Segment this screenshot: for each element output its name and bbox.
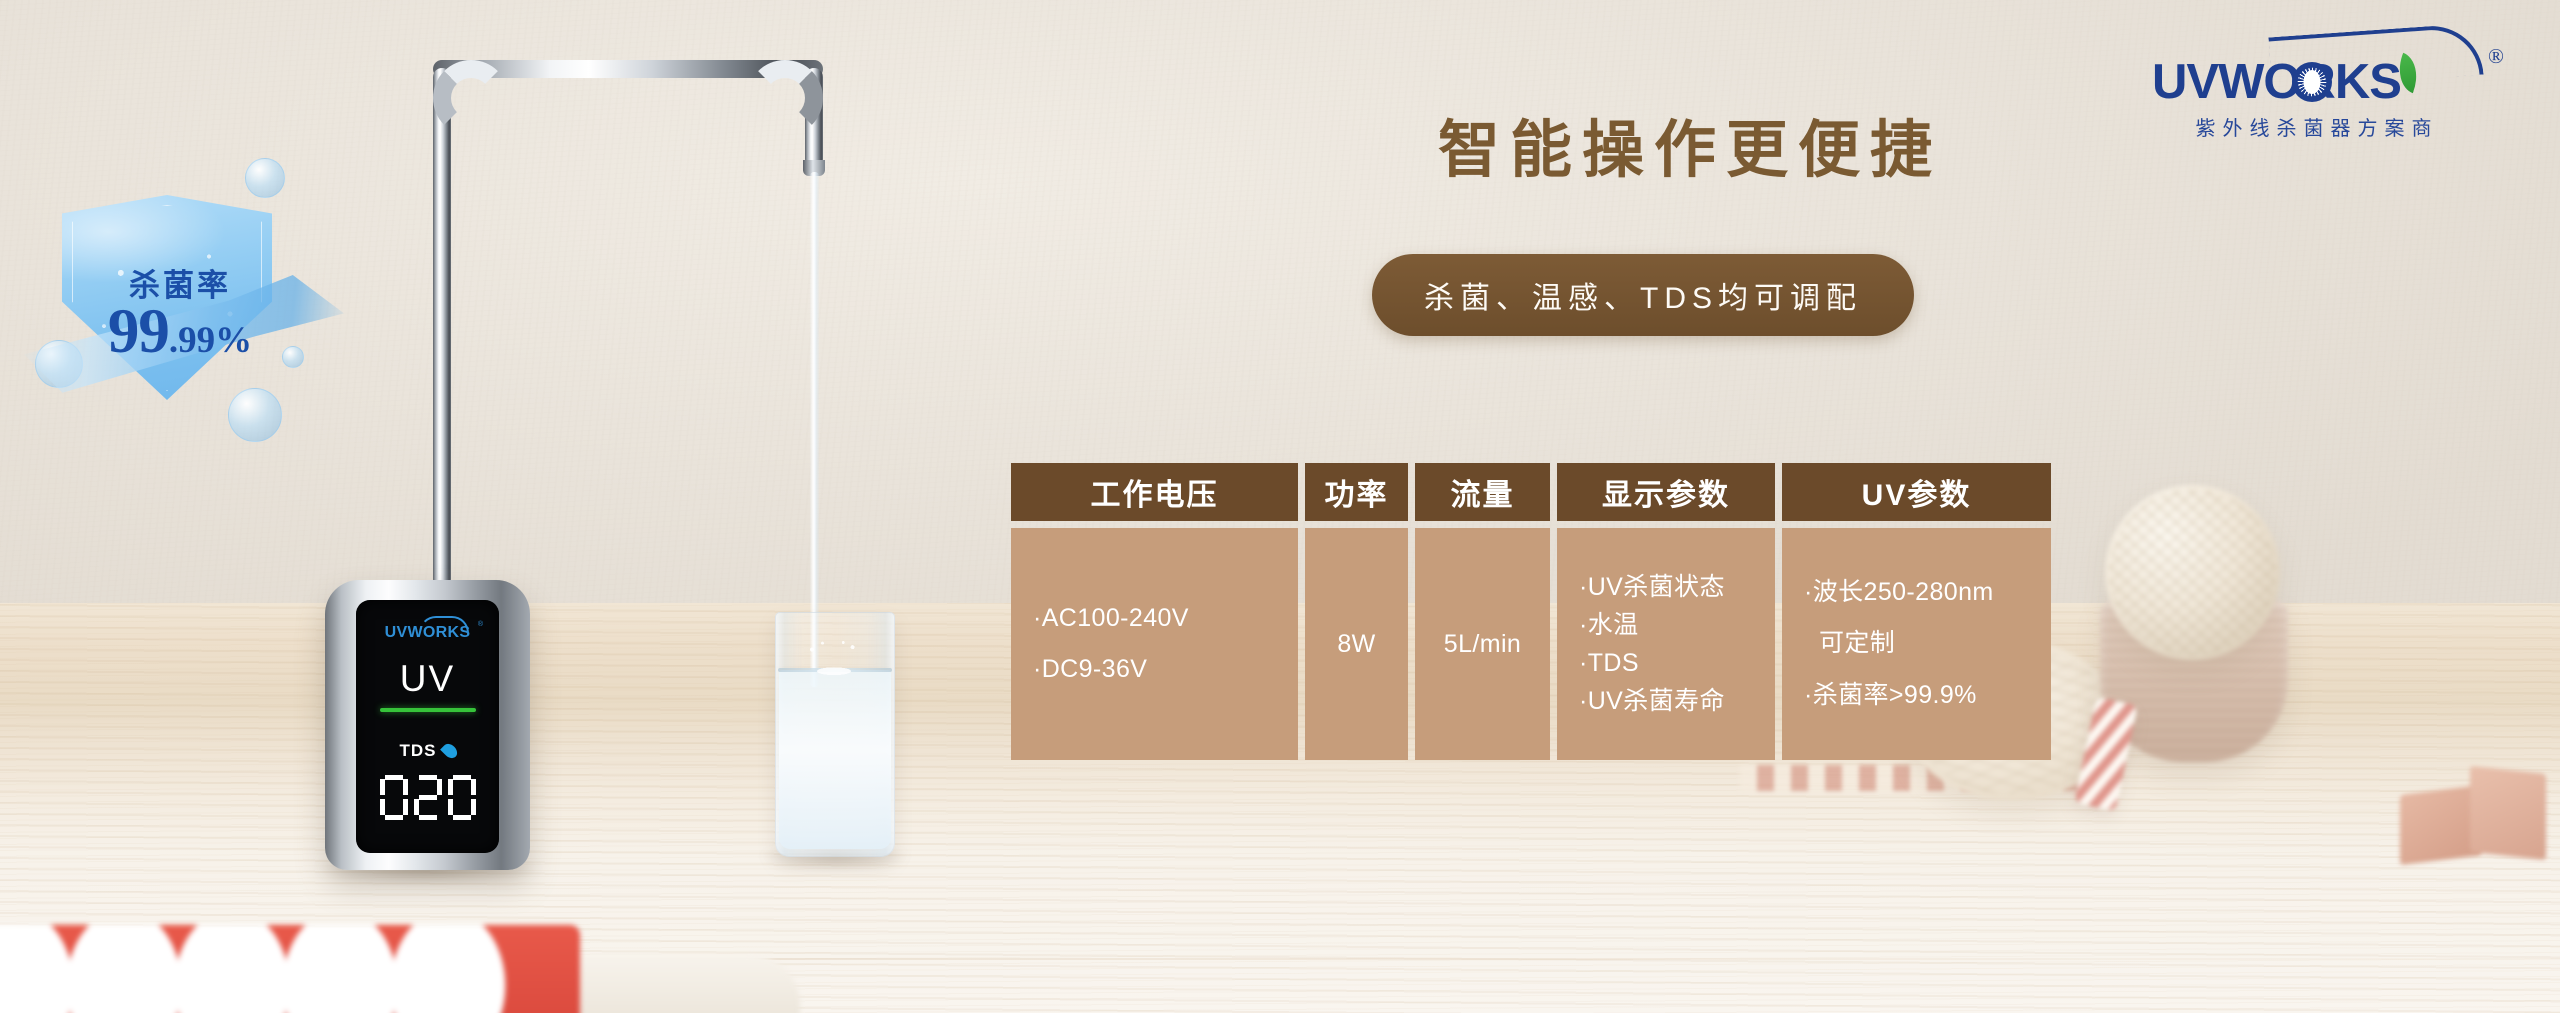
spec-line: ·UV杀菌寿命 bbox=[1579, 682, 1753, 720]
spec-column-flow: 流量 5L/min bbox=[1415, 463, 1550, 760]
registered-mark: ® bbox=[2488, 44, 2504, 69]
spec-line: ·AC100-240V bbox=[1033, 593, 1276, 644]
spec-line: ·波长250-280nm bbox=[1804, 567, 2029, 618]
device-oled-screen[interactable]: UVWORKS ® UV TDS bbox=[356, 600, 499, 853]
chrome-faucet bbox=[415, 60, 835, 600]
screen-logo-registered-mark: ® bbox=[478, 621, 483, 628]
wood-tile-prop-b bbox=[2470, 766, 2546, 860]
water-glass bbox=[775, 612, 895, 857]
water-stream bbox=[810, 172, 819, 687]
spec-column-uv: UV参数 ·波长250-280nm 可定制 ·杀菌率>99.9% bbox=[1782, 463, 2051, 760]
spec-line: ·杀菌率>99.9% bbox=[1804, 670, 2029, 721]
spec-header-display: 显示参数 bbox=[1557, 463, 1775, 521]
subtitle-pill: 杀菌、温感、TDS均可调配 bbox=[1372, 254, 1914, 336]
spec-body-flow: 5L/min bbox=[1415, 528, 1550, 760]
spec-body-uv: ·波长250-280nm 可定制 ·杀菌率>99.9% bbox=[1782, 528, 2051, 760]
spec-line: 8W bbox=[1337, 625, 1375, 663]
water-drop-icon bbox=[440, 741, 460, 761]
uv-sterilizer-device[interactable]: UVWORKS ® UV TDS bbox=[325, 580, 530, 870]
screen-status-bar bbox=[380, 708, 476, 712]
page-title: 智能操作更便捷 bbox=[1360, 120, 2020, 182]
sterilization-rate-badge: 杀菌率 99.99% bbox=[30, 150, 330, 440]
spec-line: ·UV杀菌状态 bbox=[1579, 568, 1753, 606]
screen-logo-arc-icon bbox=[419, 616, 469, 633]
spec-line: ·水温 bbox=[1579, 606, 1753, 644]
badge-value-minor: .99% bbox=[169, 320, 252, 361]
faucet-right-elbow bbox=[747, 60, 823, 136]
bubble-icon-1 bbox=[245, 158, 285, 198]
faucet-left-elbow bbox=[433, 60, 509, 136]
spec-table: 工作电压 ·AC100-240V ·DC9-36V 功率 8W 流量 5L/mi… bbox=[1011, 463, 2051, 760]
spec-body-power: 8W bbox=[1305, 528, 1408, 760]
brand-tagline: 紫外线杀菌器方案商 bbox=[2162, 112, 2472, 141]
screen-mode-label: UV bbox=[400, 660, 455, 697]
bubble-icon-3 bbox=[228, 388, 282, 442]
screen-tds-row: TDS bbox=[400, 741, 456, 761]
seg-digit-0 bbox=[380, 775, 408, 820]
seg-digit-2 bbox=[414, 775, 442, 820]
spec-header-uv: UV参数 bbox=[1782, 463, 2051, 521]
spec-body-voltage: ·AC100-240V ·DC9-36V bbox=[1011, 528, 1298, 760]
spec-line: ·TDS bbox=[1579, 644, 1753, 682]
sunburst-rays-icon bbox=[2292, 62, 2332, 102]
spec-column-voltage: 工作电压 ·AC100-240V ·DC9-36V bbox=[1011, 463, 1298, 760]
screen-tds-label: TDS bbox=[400, 741, 437, 761]
spec-line: 可定制 bbox=[1804, 618, 2029, 669]
spec-column-power: 功率 8W bbox=[1305, 463, 1408, 760]
faucet-left-riser bbox=[433, 68, 451, 588]
water-splash-icon bbox=[805, 640, 863, 680]
brand-logo: UVWORKS ® 紫外线杀菌器方案商 bbox=[2152, 32, 2502, 140]
spec-header-flow: 流量 bbox=[1415, 463, 1550, 521]
yarn-ball-prop bbox=[2105, 485, 2280, 660]
spec-line: 5L/min bbox=[1444, 625, 1521, 663]
spec-column-display: 显示参数 ·UV杀菌状态 ·水温 ·TDS ·UV杀菌寿命 bbox=[1557, 463, 1775, 760]
screen-brand-logo: UVWORKS ® bbox=[375, 623, 480, 643]
badge-value-major: 99 bbox=[108, 296, 169, 366]
seg-digit-0b bbox=[448, 775, 476, 820]
glass-water-fill bbox=[779, 670, 891, 849]
spec-header-voltage: 工作电压 bbox=[1011, 463, 1298, 521]
spec-line: ·DC9-36V bbox=[1033, 644, 1276, 695]
spec-header-power: 功率 bbox=[1305, 463, 1408, 521]
screen-tds-seven-segment-display bbox=[380, 775, 476, 820]
polka-dot-towel-prop bbox=[0, 925, 580, 1013]
spec-body-display: ·UV杀菌状态 ·水温 ·TDS ·UV杀菌寿命 bbox=[1557, 528, 1775, 760]
badge-value: 99.99% bbox=[30, 295, 330, 368]
